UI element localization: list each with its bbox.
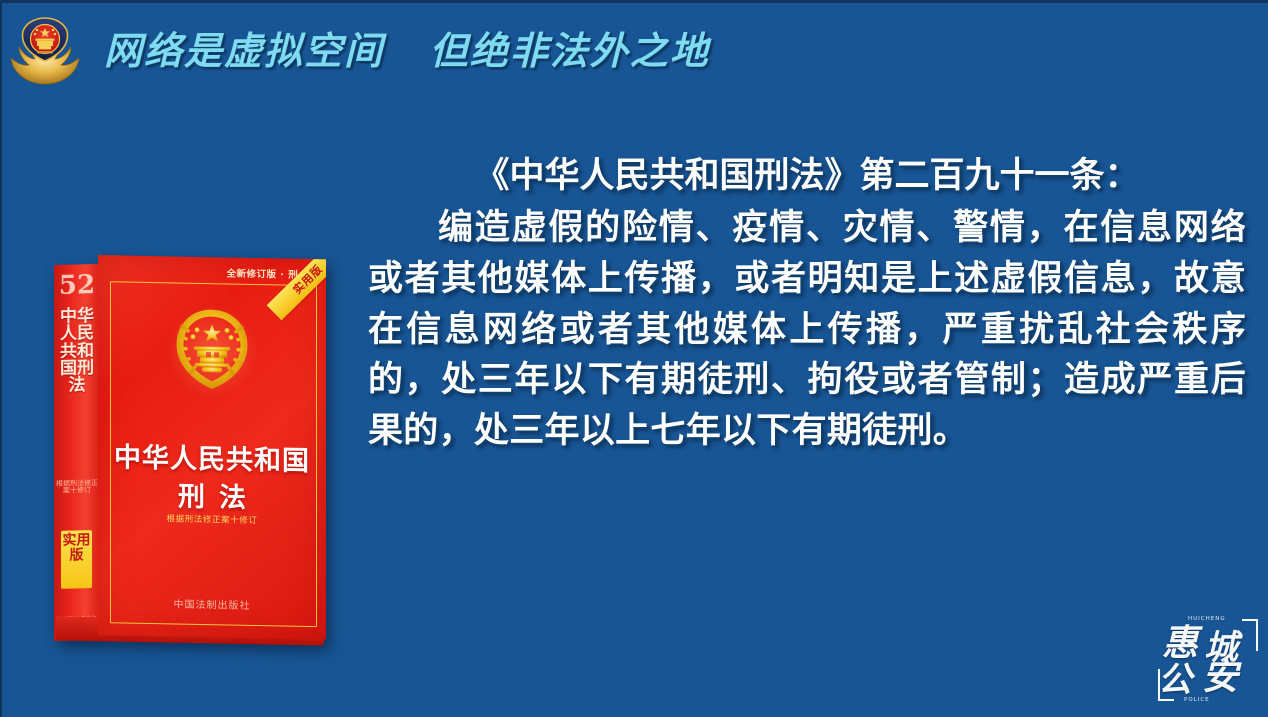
header-slogan: 网络是虚拟空间 但绝非法外之地 [104, 32, 710, 70]
law-article-title: 《中华人民共和国刑法》第二百九十一条： [368, 153, 1246, 199]
watermark-char-1: 惠 [1162, 625, 1198, 661]
book-spine-badge: 实用版 [61, 530, 92, 589]
law-article-body: 编造虚假的险情、疫情、灾情、警情，在信息网络或者其他媒体上传播，或者明知是上述虚… [368, 203, 1246, 457]
huicheng-police-watermark: HUICHENG POLICE 惠 城 公 安 [1156, 609, 1260, 707]
watermark-char-3: 公 [1158, 663, 1192, 697]
book-spine-title: 中华人民共和国刑法 [54, 308, 100, 396]
book-spine-number: 52 [54, 270, 100, 301]
law-article-block: 《中华人民共和国刑法》第二百九十一条： 编造虚假的险情、疫情、灾情、警情，在信息… [368, 153, 1246, 457]
watermark-char-4: 安 [1202, 659, 1238, 695]
china-police-badge-icon [8, 14, 82, 88]
book-front-cover: 全新修订版 · 刑 法 实用版 [98, 255, 326, 639]
header-banner: 网络是虚拟空间 但绝非法外之地 [2, 3, 1268, 99]
watermark-bracket-top-right [1242, 619, 1258, 651]
cover-title-line1: 中华人民共和国 [98, 435, 326, 478]
national-emblem-icon [164, 304, 260, 402]
book-spine-subtitle: 根据刑法修正案十修订 [54, 480, 100, 496]
book-spine: 52 中华人民共和国刑法 根据刑法修正案十修订 实用版 中国法制出版社 [54, 264, 100, 641]
criminal-law-book-image: 52 中华人民共和国刑法 根据刑法修正案十修订 实用版 中国法制出版社 全新修订… [54, 255, 334, 647]
poster-canvas: 网络是虚拟空间 但绝非法外之地 52 中华人民共和国刑法 根据刑法修正案十修订 … [0, 0, 1268, 717]
cover-title-line2: 刑法 [98, 473, 326, 516]
